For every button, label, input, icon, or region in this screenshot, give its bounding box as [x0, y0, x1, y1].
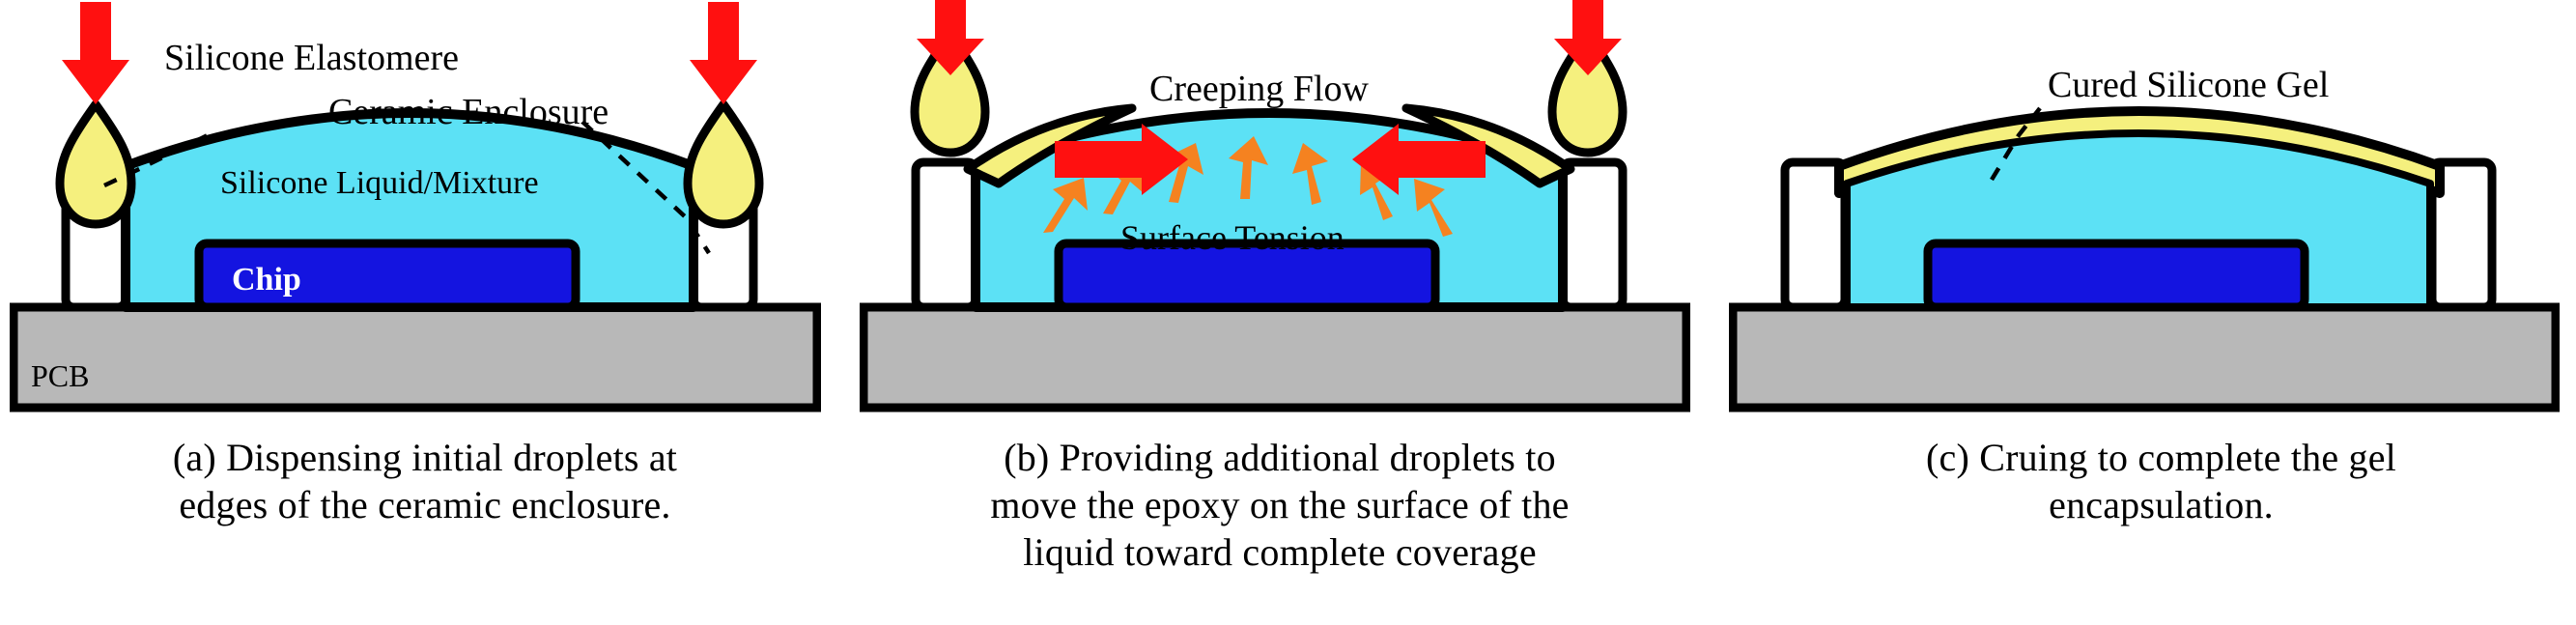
encapsulation-process-figure: Chip PCB Silicone Liquid/Mixture	[0, 0, 2576, 625]
panel-b-caption: (b) Providing additional droplets to mov…	[879, 435, 1681, 576]
panel-b-caption-line-1: (b) Providing additional droplets to	[879, 435, 1681, 482]
droplet-icon-right	[688, 104, 759, 224]
pcb-substrate	[1733, 307, 2556, 408]
red-down-arrow-icon-right	[690, 2, 757, 104]
panel-c-caption: (c) Cruing to complete the gel encapsula…	[1770, 435, 2553, 529]
ceramic-enclosure-label: Ceramic Enclosure	[328, 92, 609, 132]
panel-a-caption-line-2: edges of the ceramic enclosure.	[39, 482, 811, 529]
panel-c: Cured Silicone Gel (c) Cruing to complet…	[1719, 0, 2569, 529]
panel-b-artwork: Surface Tension	[860, 0, 1690, 425]
ceramic-enclosure-right-wall	[1563, 162, 1623, 307]
surface-tension-label: Surface Tension	[1120, 218, 1345, 257]
panel-a-caption: (a) Dispensing initial droplets at edges…	[39, 435, 811, 529]
panel-a-caption-line-1: (a) Dispensing initial droplets at	[39, 435, 811, 482]
panel-b-caption-line-3: liquid toward complete coverage	[879, 529, 1681, 577]
pcb-label: PCB	[31, 358, 89, 393]
panel-c-artwork: Cured Silicone Gel	[1729, 0, 2560, 425]
panel-b-caption-line-2: move the epoxy on the surface of the	[879, 482, 1681, 529]
creeping-flow-label: Creeping Flow	[1149, 69, 1369, 109]
chip-label: Chip	[232, 262, 301, 298]
silicone-liquid-label: Silicone Liquid/Mixture	[220, 165, 539, 201]
ceramic-enclosure-left-wall	[916, 162, 976, 307]
pcb-substrate	[14, 307, 817, 408]
chip-die	[1928, 243, 2305, 307]
cured-silicone-gel-label: Cured Silicone Gel	[2048, 65, 2329, 105]
panel-a: Chip PCB Silicone Liquid/Mixture	[0, 0, 831, 529]
panel-c-caption-line-2: encapsulation.	[1770, 482, 2553, 529]
droplet-icon-left	[60, 104, 131, 224]
panel-b: Surface Tension	[850, 0, 1700, 576]
silicone-elastomere-label: Silicone Elastomere	[164, 38, 459, 78]
panel-a-artwork: Chip PCB Silicone Liquid/Mixture	[10, 0, 821, 425]
pcb-substrate	[863, 307, 1686, 408]
panel-c-caption-line-1: (c) Cruing to complete the gel	[1770, 435, 2553, 482]
red-down-arrow-icon-left	[62, 2, 129, 104]
